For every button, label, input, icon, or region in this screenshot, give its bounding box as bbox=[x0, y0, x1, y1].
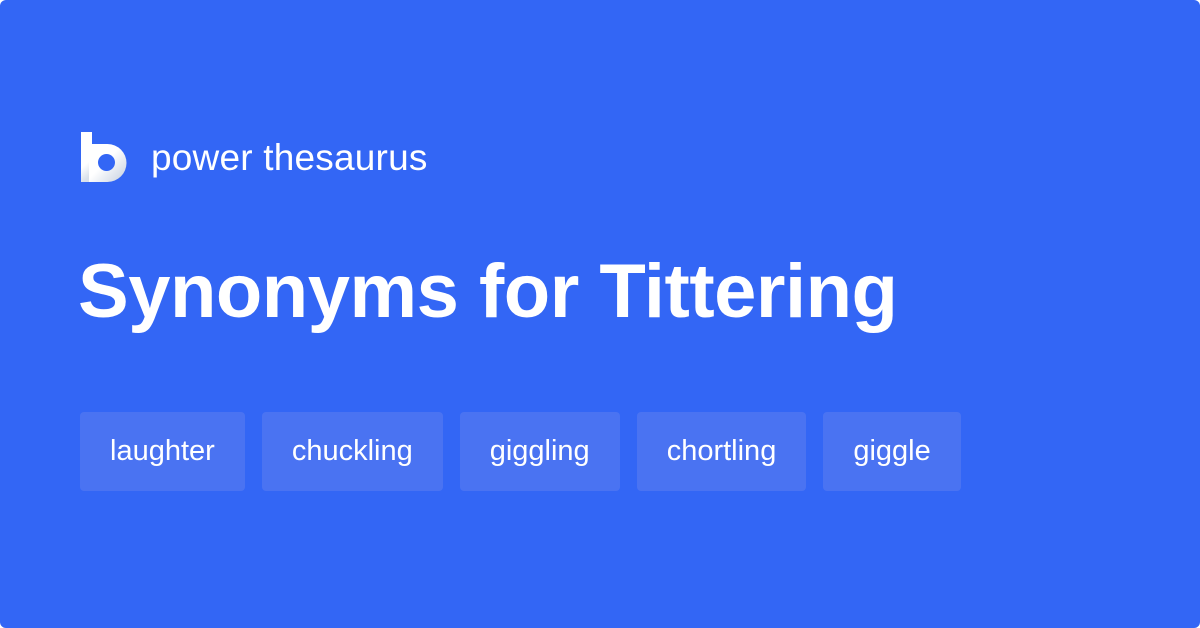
social-share-card: power thesaurus Synonyms for Tittering l… bbox=[0, 0, 1200, 628]
synonym-chip[interactable]: laughter bbox=[80, 412, 245, 491]
brand-lockup[interactable]: power thesaurus bbox=[80, 129, 428, 185]
page-title: Synonyms for Tittering bbox=[78, 249, 897, 335]
synonym-chip[interactable]: giggle bbox=[823, 412, 960, 491]
synonym-chip-list: laughter chuckling giggling chortling gi… bbox=[80, 412, 1120, 491]
power-thesaurus-b-logo-icon bbox=[80, 132, 128, 182]
synonym-chip[interactable]: chuckling bbox=[262, 412, 443, 491]
synonym-chip[interactable]: giggling bbox=[460, 412, 620, 491]
brand-name: power thesaurus bbox=[151, 139, 428, 176]
synonym-chip[interactable]: chortling bbox=[637, 412, 807, 491]
